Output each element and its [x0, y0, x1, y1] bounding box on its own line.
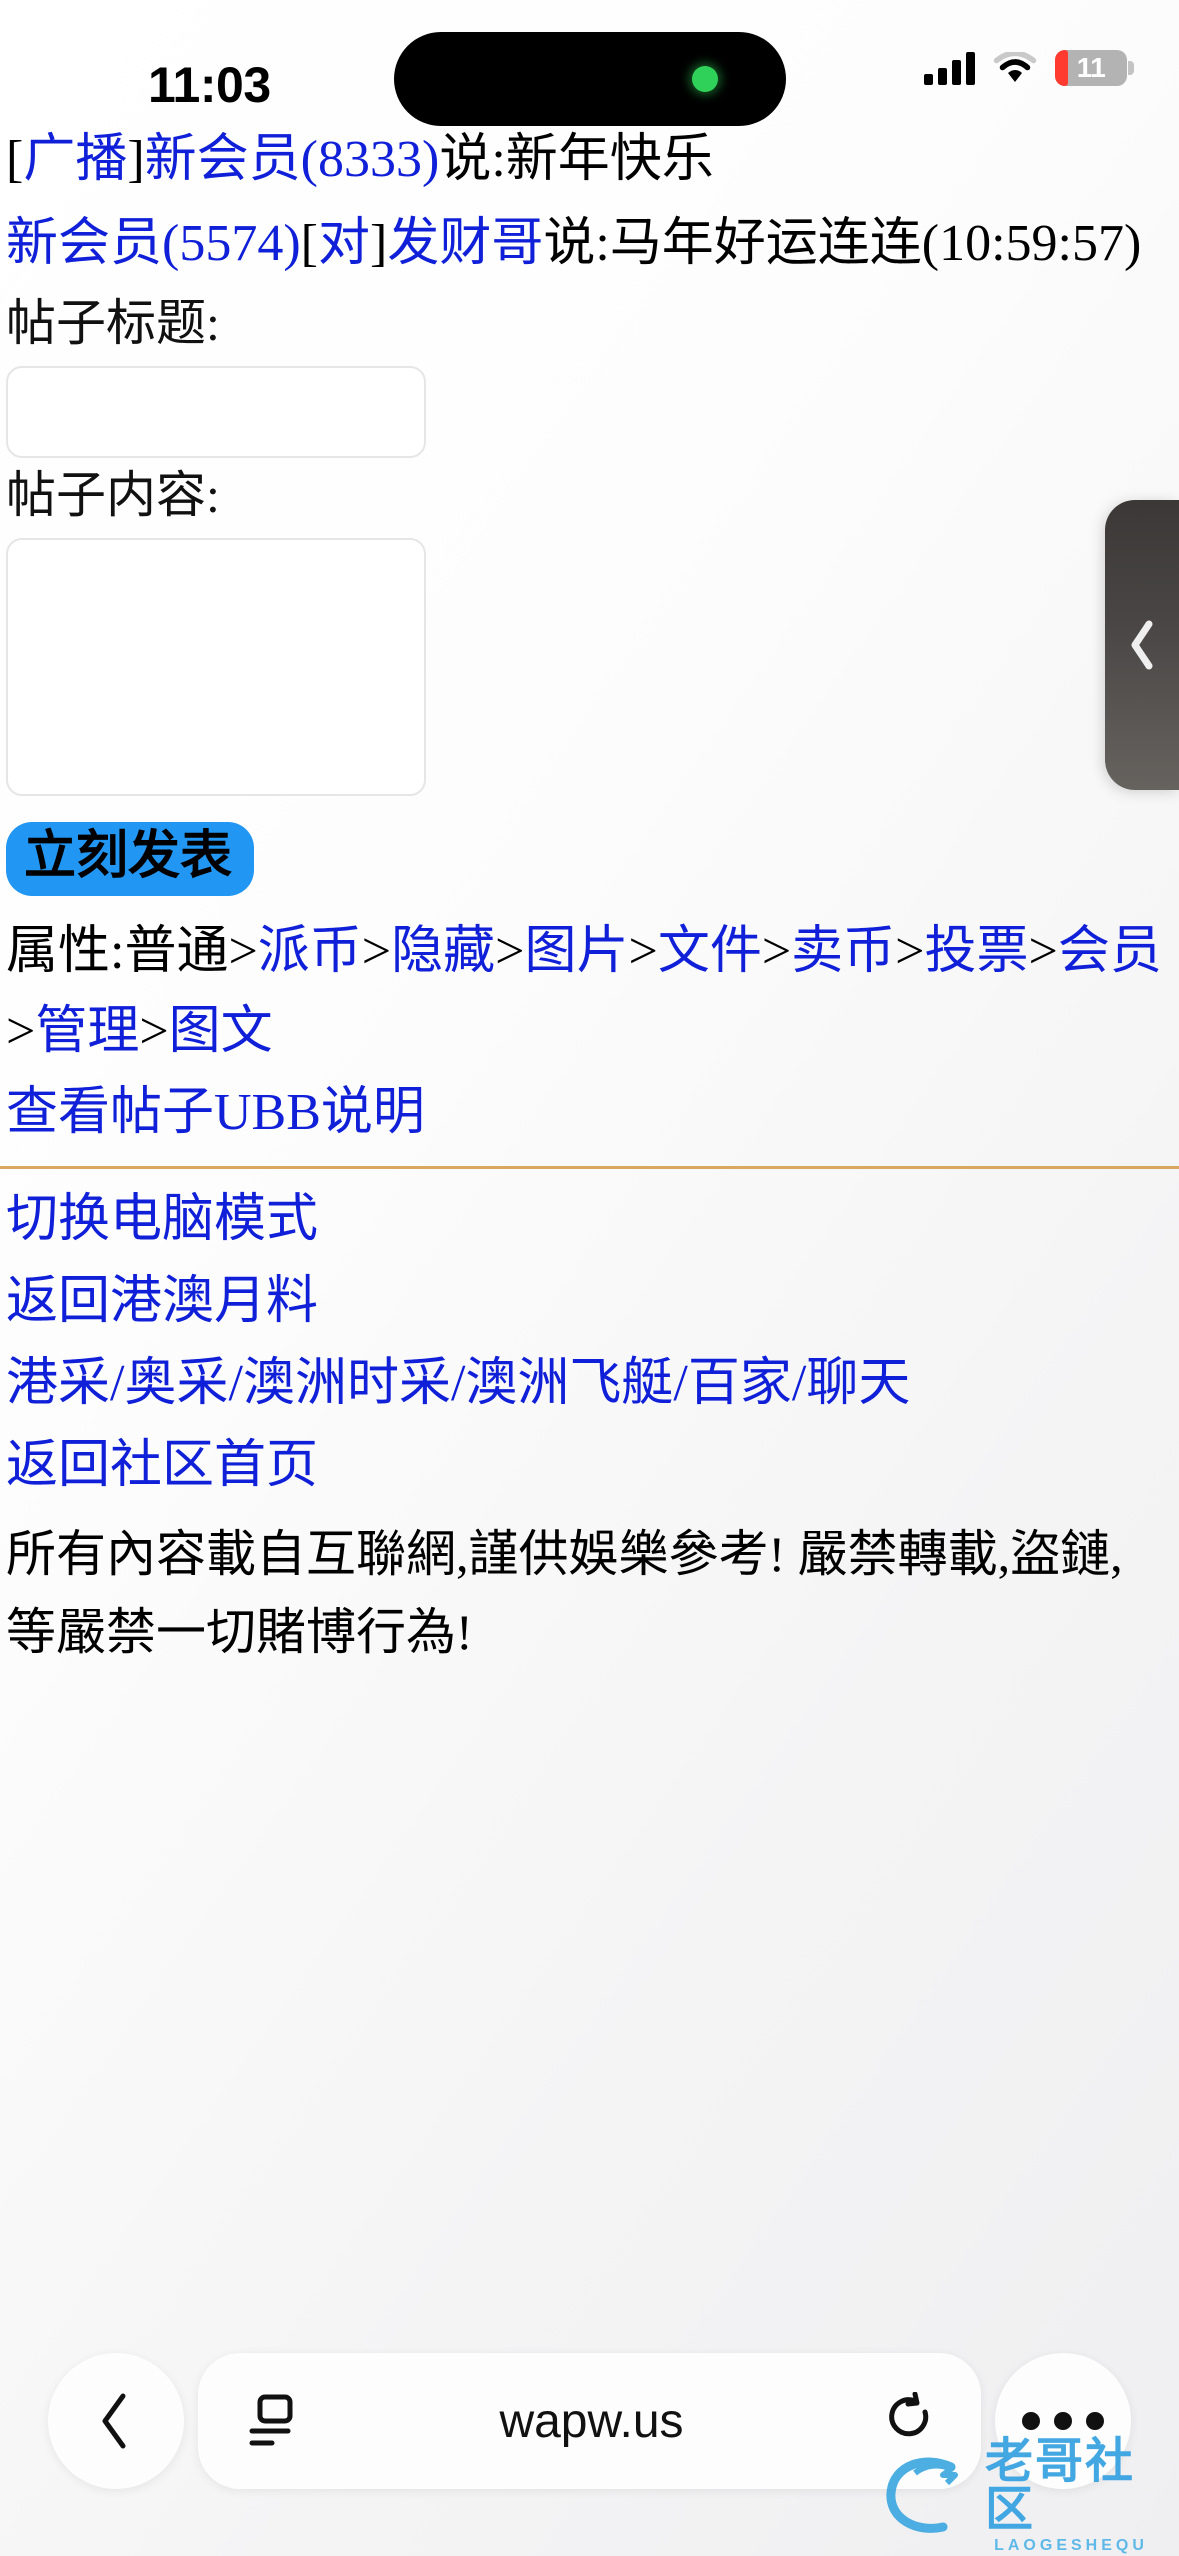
site-watermark: 老哥社区 LAOGESHEQU — [881, 2444, 1157, 2548]
attribute-separator: > — [1029, 923, 1058, 980]
attribute-separator: > — [139, 1003, 168, 1060]
back-section-link[interactable]: 返回港澳月料 — [6, 1273, 318, 1330]
side-drawer-handle[interactable] — [1105, 500, 1179, 790]
ubb-help-link[interactable]: 查看帖子UBB说明 — [6, 1084, 425, 1141]
attribute-link-5[interactable]: 投票 — [925, 923, 1029, 980]
back-section-link-row: 返回港澳月料 — [0, 1261, 1179, 1343]
post-title-label: 帖子标题: — [0, 286, 1179, 360]
lottery-separator: / — [673, 1355, 687, 1412]
lottery-link-1[interactable]: 奥采 — [124, 1355, 228, 1412]
bracket-open: [ — [6, 131, 23, 188]
bracket-close: ] — [370, 215, 387, 272]
lottery-separator: / — [110, 1355, 124, 1412]
chat-username[interactable]: 新会员(5574) — [6, 215, 301, 272]
chat-target-user[interactable]: 发财哥 — [387, 215, 543, 272]
back-chevron-icon — [93, 2390, 139, 2452]
dynamic-island — [394, 32, 786, 126]
back-home-link-row: 返回社区首页 — [0, 1425, 1179, 1507]
ubb-help-link-row: 查看帖子UBB说明 — [0, 1072, 1179, 1154]
phone-screen: 11:03 11 [广播]新会员(8333)说:新年快乐 新会员 — [0, 0, 1179, 2556]
broadcast-tag[interactable]: 广播 — [23, 131, 127, 188]
post-content-label: 帖子内容: — [0, 458, 1179, 532]
post-title-input[interactable] — [6, 366, 426, 458]
lottery-links-row: 港采/奥采/澳洲时采/澳洲飞艇/百家/聊天 — [0, 1343, 1179, 1425]
camera-active-indicator-icon — [692, 66, 718, 92]
reload-icon[interactable] — [885, 2392, 937, 2450]
desktop-mode-link-row: 切换电脑模式 — [0, 1179, 1179, 1261]
submit-post-button[interactable]: 立刻发表 — [6, 822, 254, 896]
disclaimer-text: 所有內容載自互聯網,謹供娛樂參考! 嚴禁轉載,盜鏈,等嚴禁一切賭博行為! — [0, 1515, 1179, 1671]
lottery-link-2[interactable]: 澳洲时采 — [243, 1355, 451, 1412]
chat-text: 新年快乐 — [506, 131, 714, 188]
back-home-link[interactable]: 返回社区首页 — [6, 1437, 318, 1494]
chat-separator: 说: — [543, 215, 609, 272]
page-content: [广播]新会员(8333)说:新年快乐 新会员(5574)[对]发财哥说:马年好… — [0, 118, 1179, 1671]
lottery-separator: / — [451, 1355, 465, 1412]
watermark-en: LAOGESHEQU — [985, 2538, 1157, 2554]
attribute-link-2[interactable]: 图片 — [524, 923, 628, 980]
attribute-link-0[interactable]: 派币 — [258, 923, 362, 980]
wifi-icon — [993, 52, 1037, 84]
battery-percentage: 11 — [1077, 52, 1106, 84]
url-text: wapw.us — [318, 2394, 865, 2449]
attribute-separator: > — [362, 923, 391, 980]
section-divider — [0, 1166, 1179, 1169]
status-indicators: 11 — [924, 50, 1127, 86]
bracket-open: [ — [301, 215, 318, 272]
lottery-link-5[interactable]: 聊天 — [806, 1355, 910, 1412]
lottery-link-0[interactable]: 港采 — [6, 1355, 110, 1412]
chat-text: 马年好运连连 — [610, 215, 922, 272]
dragon-logo-icon — [881, 2453, 977, 2539]
watermark-cn: 老哥社区 — [985, 2438, 1157, 2534]
post-content-textarea[interactable] — [6, 538, 426, 796]
reply-tag[interactable]: 对 — [318, 215, 370, 272]
watermark-text: 老哥社区 LAOGESHEQU — [985, 2438, 1157, 2554]
cellular-signal-icon — [924, 51, 975, 85]
attribute-separator: > — [495, 923, 524, 980]
attribute-link-4[interactable]: 卖币 — [791, 923, 895, 980]
attribute-separator: > — [628, 923, 657, 980]
lottery-link-3[interactable]: 澳洲飞艇 — [465, 1355, 673, 1412]
attribute-separator: > — [895, 923, 924, 980]
lottery-link-4[interactable]: 百家 — [688, 1355, 792, 1412]
attribute-separator: > — [6, 1003, 35, 1060]
status-time: 11:03 — [148, 56, 271, 114]
chevron-left-icon — [1122, 616, 1162, 674]
attributes-prefix: 属性:普通 — [6, 923, 228, 980]
bracket-close: ] — [127, 131, 144, 188]
chat-message-reply: 新会员(5574)[对]发财哥说:马年好运连连(10:59:57) — [0, 202, 1179, 286]
chat-message-broadcast: [广播]新会员(8333)说:新年快乐 — [0, 118, 1179, 202]
desktop-mode-link[interactable]: 切换电脑模式 — [6, 1191, 318, 1248]
attribute-link-3[interactable]: 文件 — [658, 923, 762, 980]
browser-back-button[interactable] — [48, 2353, 184, 2489]
attribute-separator: > — [762, 923, 791, 980]
attribute-link-6[interactable]: 会员 — [1058, 923, 1162, 980]
chat-username[interactable]: 新会员(8333) — [145, 131, 440, 188]
chat-timestamp: (10:59:57) — [922, 215, 1142, 272]
lottery-separator: / — [792, 1355, 806, 1412]
post-attributes-row: 属性:普通>派币>隐藏>图片>文件>卖币>投票>会员>管理>图文 — [0, 912, 1179, 1072]
battery-icon: 11 — [1055, 50, 1127, 86]
browser-url-bar[interactable]: wapw.us — [198, 2353, 981, 2489]
attribute-separator: > — [228, 923, 257, 980]
chat-separator: 说: — [439, 131, 505, 188]
attribute-link-8[interactable]: 图文 — [169, 1003, 273, 1060]
reader-view-icon[interactable] — [242, 2391, 298, 2451]
attribute-link-7[interactable]: 管理 — [35, 1003, 139, 1060]
lottery-separator: / — [228, 1355, 242, 1412]
status-bar: 11:03 11 — [0, 0, 1179, 120]
more-options-icon — [1022, 2412, 1104, 2430]
attribute-link-1[interactable]: 隐藏 — [391, 923, 495, 980]
